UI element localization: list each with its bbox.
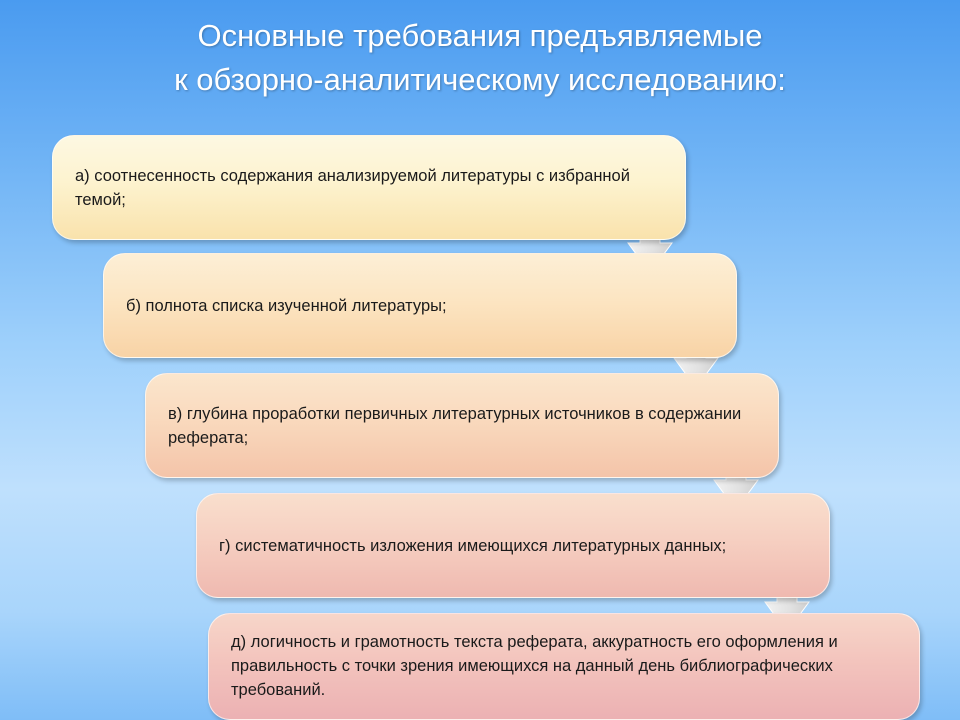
step-box-v[interactable]: в) глубина проработки первичных литерату… <box>145 373 779 478</box>
step-box-d[interactable]: д) логичность и грамотность текста рефер… <box>208 613 920 720</box>
step-text-v: в) глубина проработки первичных литерату… <box>168 402 756 450</box>
step-box-g[interactable]: г) систематичность изложения имеющихся л… <box>196 493 830 598</box>
step-text-b: б) полнота списка изученной литературы; <box>126 294 714 318</box>
page-title: Основные требования предъявляемые к обзо… <box>0 14 960 102</box>
step-box-a[interactable]: а) соотнесенность содержания анализируем… <box>52 135 686 240</box>
slide-canvas: Основные требования предъявляемые к обзо… <box>0 0 960 720</box>
step-text-g: г) систематичность изложения имеющихся л… <box>219 534 807 558</box>
step-box-b[interactable]: б) полнота списка изученной литературы; <box>103 253 737 358</box>
step-text-d: д) логичность и грамотность текста рефер… <box>231 630 897 702</box>
step-text-a: а) соотнесенность содержания анализируем… <box>75 164 663 212</box>
